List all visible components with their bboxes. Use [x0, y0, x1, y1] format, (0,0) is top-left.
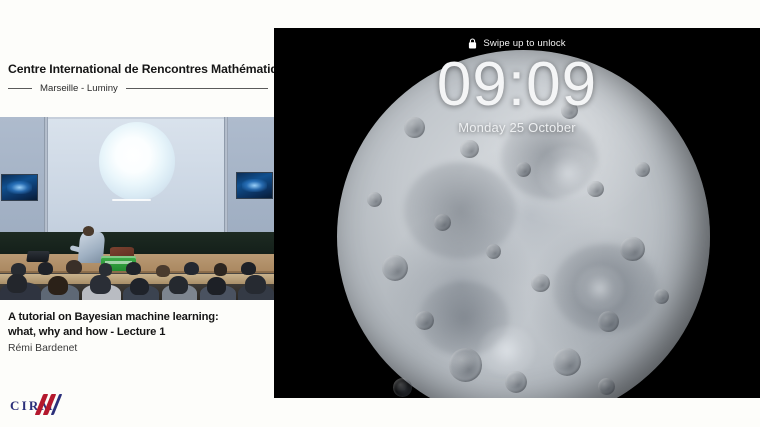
talk-title-line-2: what, why and how - Lecture 1 [8, 326, 165, 338]
moon-crater [587, 181, 604, 198]
photo-laptop [27, 251, 50, 262]
photo-monitor-left [1, 174, 38, 201]
moon-crater [598, 311, 619, 332]
padlock-closed-icon [468, 38, 477, 49]
screenshot-root: Centre International de Rencontres Mathé… [0, 0, 760, 427]
moon-crater [434, 214, 451, 231]
talk-title: A tutorial on Bayesian machine learning:… [8, 310, 270, 340]
photo-audience-head [214, 263, 228, 276]
photo-audience-head [7, 274, 28, 292]
lecture-hall-photo [0, 117, 274, 300]
photo-audience-head [130, 278, 149, 295]
rule-left [8, 88, 32, 89]
photo-audience-head [156, 265, 170, 277]
institution-header: Centre International de Rencontres Mathé… [0, 62, 274, 94]
photo-audience-head [241, 262, 256, 276]
photo-audience-head [66, 260, 82, 275]
photo-audience-head [169, 276, 188, 293]
photo-monitor-right [236, 172, 273, 199]
moon-crater [505, 371, 527, 393]
photo-audience-head [245, 275, 266, 293]
talk-title-line-1: A tutorial on Bayesian machine learning: [8, 311, 219, 323]
photo-audience-head [184, 262, 199, 276]
moon-crater [620, 237, 644, 261]
photo-audience-head [207, 277, 226, 294]
lock-screen-clock: 09:09 [274, 54, 760, 116]
moon-crater [449, 348, 483, 382]
swipe-to-unlock-hint[interactable]: Swipe up to unlock [274, 38, 760, 49]
left-info-panel: Centre International de Rencontres Mathé… [0, 0, 274, 427]
cirm-logo: CIRM [8, 393, 100, 419]
photo-audience-head [90, 275, 111, 293]
moon-crater [367, 192, 382, 207]
moon-bright-ray [576, 266, 624, 311]
moon-crater [382, 255, 408, 281]
swipe-hint-text: Swipe up to unlock [483, 38, 565, 49]
talk-info: A tutorial on Bayesian machine learning:… [8, 310, 270, 354]
phone-lock-screen[interactable]: Swipe up to unlock 09:09 Monday 25 Octob… [274, 28, 760, 398]
photo-audience-head [38, 262, 53, 276]
moon-crater [598, 378, 615, 395]
moon-crater [635, 162, 650, 177]
moon-crater [654, 289, 669, 304]
institution-location-row: Marseille - Luminy [0, 83, 274, 94]
photo-audience-head [48, 276, 69, 294]
moon-crater [415, 311, 434, 330]
moon-crater [531, 274, 550, 293]
photo-audience-head [126, 262, 141, 276]
talk-author: Rémi Bardenet [8, 343, 270, 354]
moon-crater [516, 162, 531, 177]
rule-right [126, 88, 268, 89]
photo-pillar-right [224, 117, 228, 241]
photo-speaker-head [83, 226, 95, 236]
lock-screen-date: Monday 25 October [274, 120, 760, 135]
moon-crater [486, 244, 501, 259]
institution-name: Centre International de Rencontres Mathé… [0, 62, 274, 76]
moon-mare [404, 162, 516, 259]
photo-projected-glow [99, 122, 176, 201]
photo-audience-head [99, 263, 113, 276]
institution-location: Marseille - Luminy [32, 83, 126, 94]
moon-crater [553, 348, 581, 376]
photo-pillar-left [44, 117, 48, 241]
moon-crater [393, 378, 412, 397]
moon-crater [460, 140, 479, 159]
moon-bright-ray [479, 326, 535, 374]
